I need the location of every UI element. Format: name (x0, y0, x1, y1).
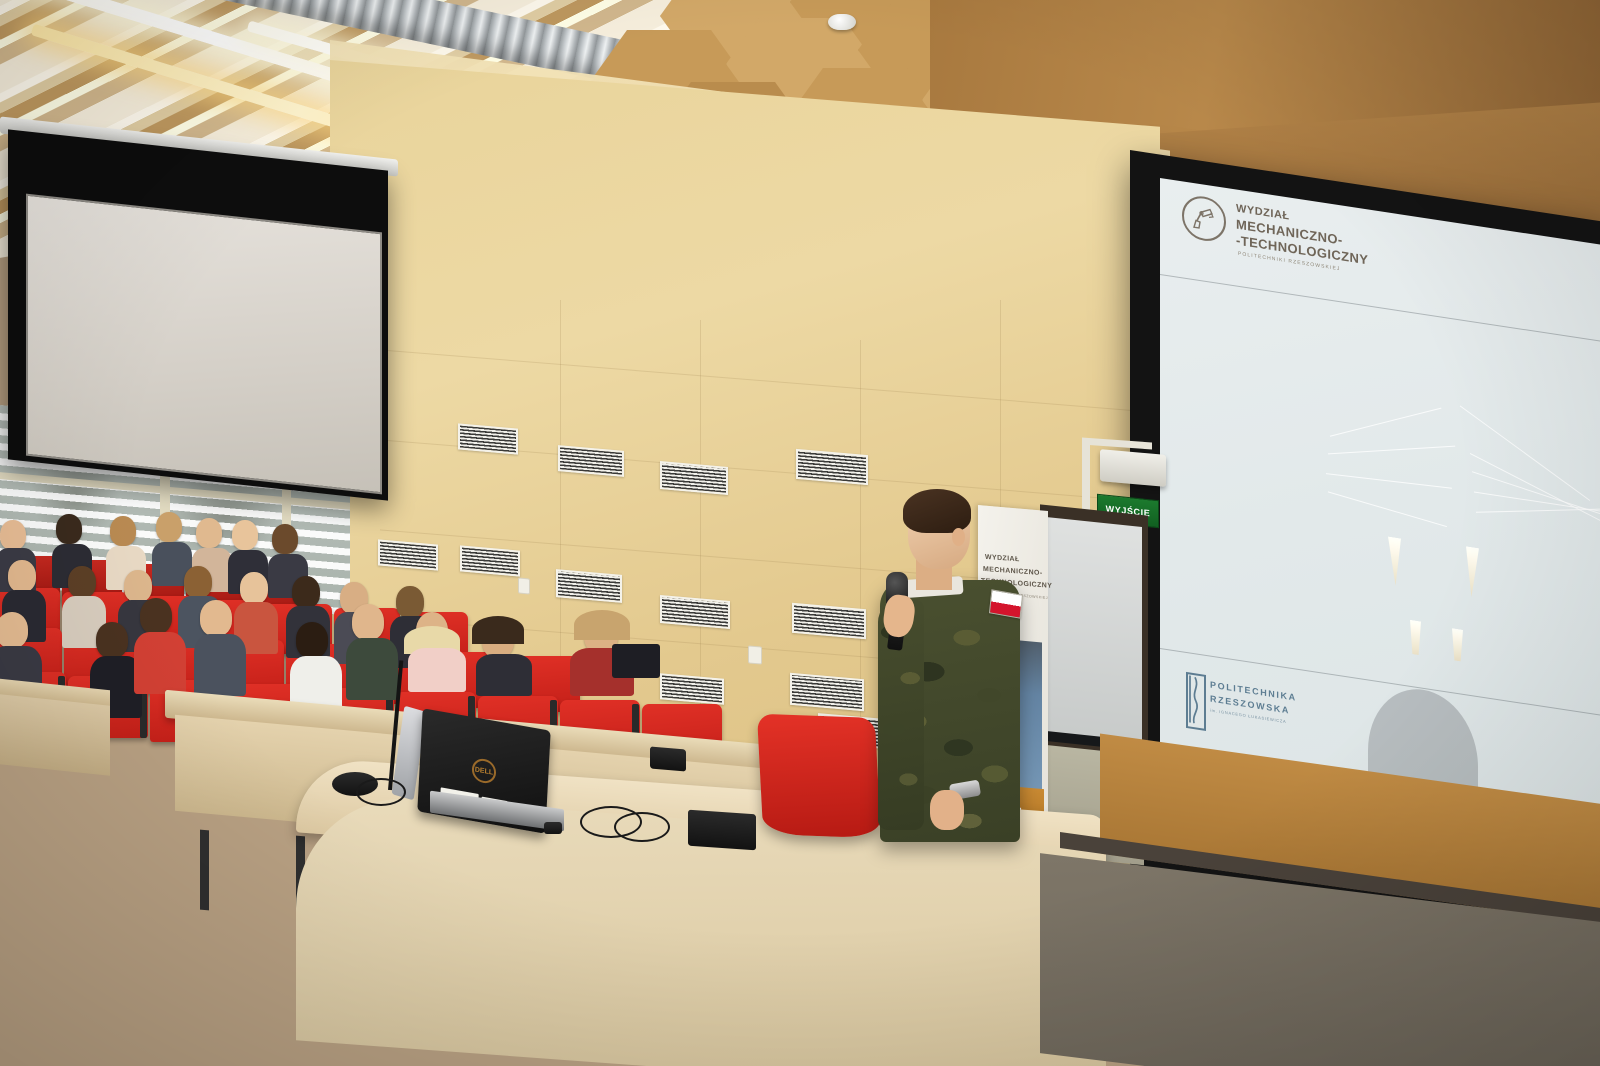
rollup-banner-line1: WYDZIAŁ (985, 554, 1020, 565)
wall-vent (460, 545, 520, 576)
tiger-photo (1270, 227, 1600, 719)
whiteboard-surface[interactable] (1046, 517, 1142, 749)
side-desk-panel (0, 694, 110, 776)
smoke-detector-icon (828, 14, 856, 30)
wall-vent (660, 595, 730, 629)
bench-leg (200, 830, 209, 911)
desk-adapter (688, 810, 756, 851)
wall-outlet (748, 645, 762, 664)
rollup-banner-line2: MECHANICZNO- (983, 566, 1043, 579)
desk-device[interactable] (650, 746, 686, 771)
university-logo-glyph (1187, 673, 1202, 726)
speaker-hand (930, 790, 964, 830)
wall-vent (556, 569, 622, 603)
light-hair (574, 610, 630, 640)
wall-vent (796, 449, 868, 485)
desk-cable (614, 812, 670, 842)
ceiling-projector (1100, 449, 1166, 487)
wall-vent (660, 461, 728, 495)
wall-vent (458, 423, 518, 454)
wall-outlet (518, 577, 530, 594)
desk-cable (356, 778, 406, 806)
speaker-ear (952, 528, 965, 546)
dark-hair (472, 616, 524, 644)
speaker-hair (903, 489, 971, 533)
lecture-hall-photo: WYDZIAŁ MECHANICZNO- -TECHNOLOGICZNY POL… (0, 0, 1600, 1066)
presenter-chair[interactable] (757, 714, 881, 839)
dell-logo-icon: DELL (471, 757, 496, 785)
wall-vent (790, 673, 864, 711)
wall-vent (792, 603, 866, 639)
wall-vent (660, 673, 724, 705)
presentation-slide[interactable]: WYDZIAŁ MECHANICZNO- -TECHNOLOGICZNY POL… (1160, 178, 1600, 831)
desk-connector (544, 822, 562, 834)
wall-vent (378, 539, 438, 570)
projection-screen-surface-left[interactable] (26, 194, 382, 495)
robot-arm-icon (1188, 200, 1218, 235)
handbag (612, 644, 660, 678)
projector-mount-arm (1082, 440, 1090, 513)
